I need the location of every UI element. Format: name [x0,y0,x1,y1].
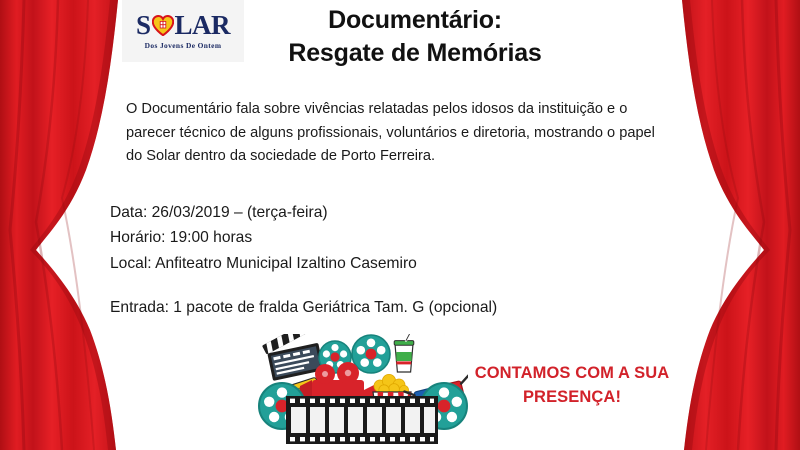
logo-letters-lar: LAR [175,12,231,39]
event-date: Data: 26/03/2019 – (terça-feira) [110,200,417,225]
description-paragraph: O Documentário fala sobre vivências rela… [126,98,671,169]
cinema-clipart [258,334,468,446]
title-line-1: Documentário: [250,4,580,37]
logo-subtitle: Dos Jovens De Ontem [145,41,222,50]
title-line-2: Resgate de Memórias [250,37,580,70]
soda-cup-icon [394,334,414,372]
call-to-action: CONTAMOS COM A SUA PRESENÇA! [452,362,692,410]
cta-line-2: PRESENÇA! [452,386,692,410]
event-poster: S LAR Dos Jovens De Ontem Documentário: … [0,0,800,450]
logo-letter-s: S [136,12,151,39]
logo-wordmark: S LAR [136,12,230,39]
event-time: Horário: 19:00 horas [110,225,417,250]
page-title: Documentário: Resgate de Memórias [250,4,580,69]
clapperboard-icon [259,334,324,382]
cta-line-1: CONTAMOS COM A SUA [452,362,692,386]
film-strip-icon [286,396,438,444]
event-details: Data: 26/03/2019 – (terça-feira) Horário… [110,200,417,276]
event-place: Local: Anfiteatro Municipal Izaltino Cas… [110,251,417,276]
solar-logo: S LAR Dos Jovens De Ontem [122,0,244,62]
film-reel-icon [352,335,390,373]
event-entry-fee: Entrada: 1 pacote de fralda Geriátrica T… [110,296,497,321]
heart-house-icon [152,15,174,36]
